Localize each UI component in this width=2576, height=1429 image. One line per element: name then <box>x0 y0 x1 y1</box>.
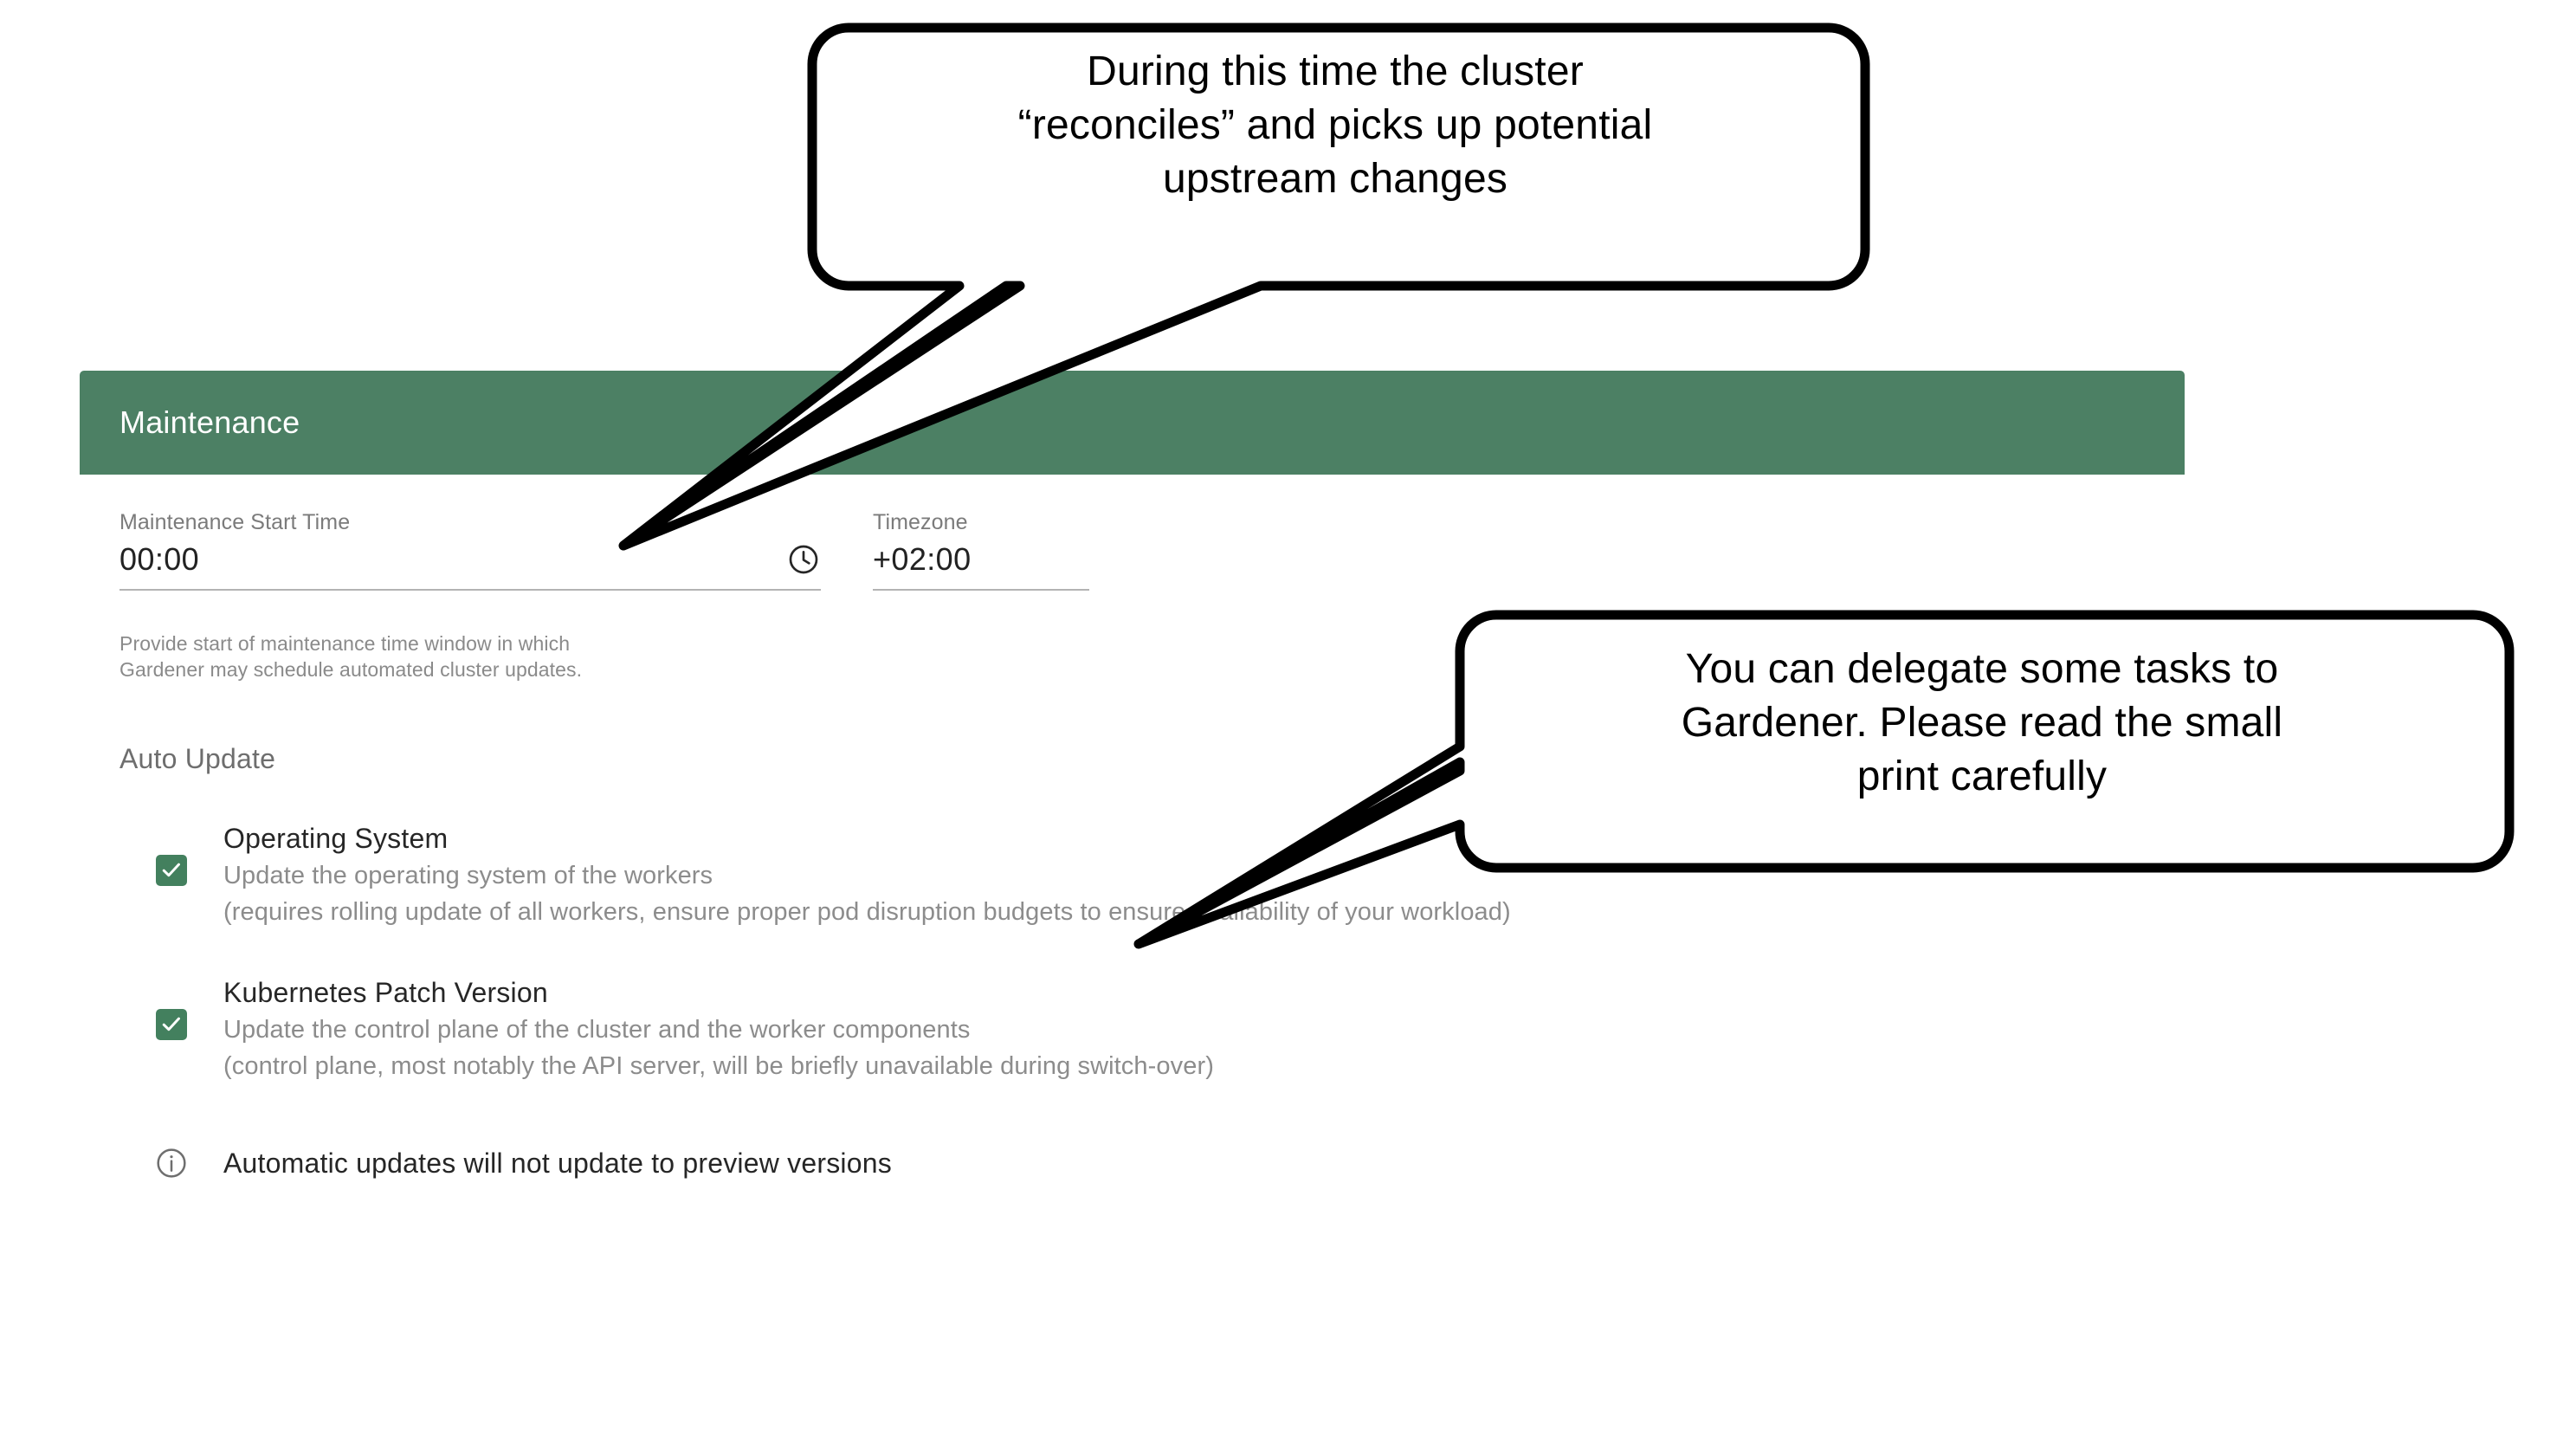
operating-system-checkbox[interactable] <box>156 855 187 886</box>
info-circle-icon <box>154 1146 189 1180</box>
timezone-input[interactable]: +02:00 <box>873 540 1089 591</box>
operating-system-desc-line-2: (requires rolling update of all workers,… <box>223 895 1511 929</box>
preview-versions-info-row: Automatic updates will not update to pre… <box>119 1146 2224 1180</box>
maintenance-hint-line-1: Provide start of maintenance time window… <box>119 630 582 656</box>
callout-delegate-line-1: You can delegate some tasks to <box>1481 643 2483 696</box>
maintenance-hint: Provide start of maintenance time window… <box>119 630 582 682</box>
maintenance-start-time-input[interactable]: 00:00 <box>119 540 821 591</box>
auto-update-section: Auto Update Operating System Update the … <box>119 743 2224 1180</box>
operating-system-text: Operating System Update the operating sy… <box>223 820 1511 929</box>
operating-system-desc-line-1: Update the operating system of the worke… <box>223 858 1511 893</box>
info-icon-wrap <box>119 1146 223 1180</box>
maintenance-start-time-field[interactable]: Maintenance Start Time 00:00 <box>119 509 821 591</box>
operating-system-title: Operating System <box>223 820 1511 857</box>
maintenance-card-header: Maintenance <box>80 371 2185 475</box>
maintenance-hint-line-2: Gardener may schedule automated cluster … <box>119 656 582 682</box>
kubernetes-patch-version-desc-line-1: Update the control plane of the cluster … <box>223 1012 1214 1047</box>
kubernetes-patch-version-title: Kubernetes Patch Version <box>223 974 1214 1011</box>
page-title: Maintenance <box>119 404 300 441</box>
callout-delegate-text: You can delegate some tasks to Gardener.… <box>1481 643 2483 804</box>
callout-reconcile-line-1: During this time the cluster <box>833 45 1837 99</box>
kubernetes-patch-version-checkbox-wrap[interactable] <box>119 974 223 1040</box>
operating-system-checkbox-wrap[interactable] <box>119 820 223 886</box>
preview-versions-info-text: Automatic updates will not update to pre… <box>223 1148 892 1180</box>
kubernetes-patch-version-desc-line-2: (control plane, most notably the API ser… <box>223 1049 1214 1083</box>
timezone-label: Timezone <box>873 509 1089 535</box>
operating-system-update-item[interactable]: Operating System Update the operating sy… <box>119 820 2224 929</box>
kubernetes-patch-version-text: Kubernetes Patch Version Update the cont… <box>223 974 1214 1083</box>
timezone-field[interactable]: Timezone +02:00 <box>873 509 1089 591</box>
callout-delegate-line-2: Gardener. Please read the small <box>1481 696 2483 750</box>
callout-delegate-line-3: print carefully <box>1481 750 2483 804</box>
maintenance-form-row: Maintenance Start Time 00:00 Timezone +0… <box>80 509 2185 591</box>
kubernetes-patch-version-checkbox[interactable] <box>156 1009 187 1040</box>
callout-reconcile-text: During this time the cluster “reconciles… <box>833 45 1837 206</box>
maintenance-start-time-label: Maintenance Start Time <box>119 509 821 535</box>
timezone-value: +02:00 <box>873 540 972 579</box>
callout-reconcile-line-2: “reconciles” and picks up potential <box>833 99 1837 152</box>
callout-reconcile-line-3: upstream changes <box>833 152 1837 206</box>
kubernetes-patch-version-update-item[interactable]: Kubernetes Patch Version Update the cont… <box>119 974 2224 1083</box>
maintenance-start-time-value: 00:00 <box>119 540 199 579</box>
maintenance-card: Maintenance Maintenance Start Time 00:00… <box>80 371 2185 475</box>
clock-icon[interactable] <box>786 542 821 577</box>
